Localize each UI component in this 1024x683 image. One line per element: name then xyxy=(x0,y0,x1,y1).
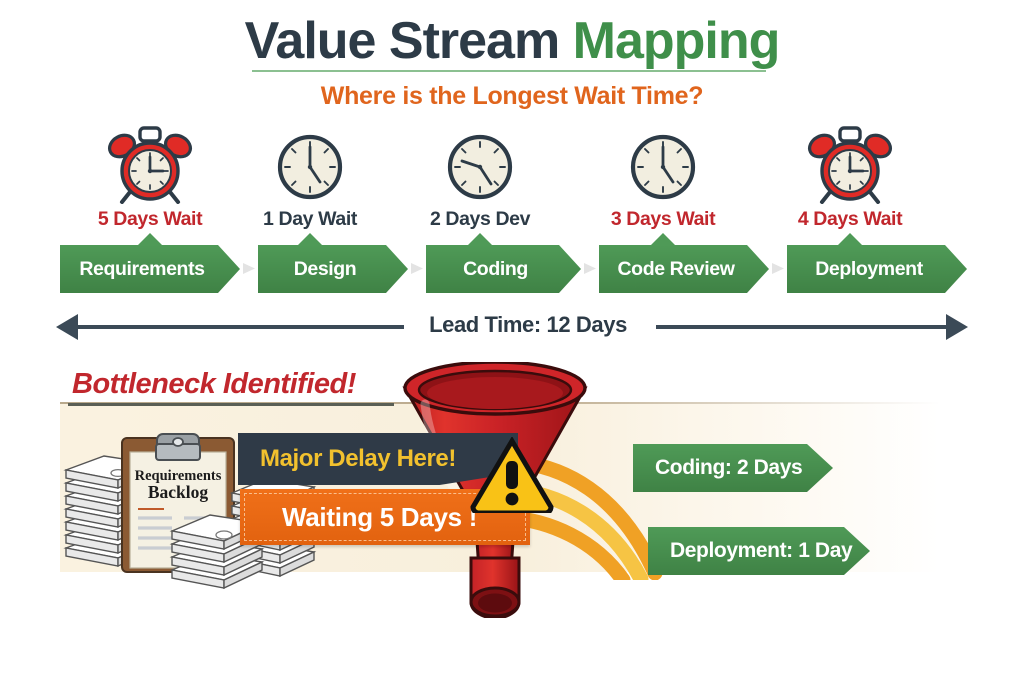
wall-clock-icon xyxy=(575,126,751,204)
infographic-canvas: Value Stream Mapping Where is the Longes… xyxy=(0,0,1024,683)
bottleneck-heading: Bottleneck Identified! xyxy=(72,368,356,401)
connector-tab-requirements xyxy=(137,233,163,246)
stage-column-code-review: 3 Days Wait xyxy=(575,126,751,231)
header-block: Value Stream Mapping xyxy=(0,14,1024,69)
stage-column-requirements: 5 Days Wait xyxy=(62,126,238,231)
major-delay-text: Major Delay Here! xyxy=(238,445,456,473)
wait-label-design: 1 Day Wait xyxy=(222,208,398,231)
lead-time-line-right xyxy=(656,325,952,329)
lead-time-label: Lead Time: 12 Days xyxy=(396,312,660,338)
stage-column-coding: 2 Days Dev xyxy=(392,126,568,231)
wait-label-code-review: 3 Days Wait xyxy=(575,208,751,231)
page-title: Value Stream Mapping xyxy=(0,14,1024,69)
alarm-clock-icon xyxy=(62,126,238,204)
result-arrow-label: Deployment: 1 Day xyxy=(648,539,852,563)
alarm-clock-icon xyxy=(762,126,938,204)
step-connector-2 xyxy=(411,263,423,274)
wait-label-deployment: 4 Days Wait xyxy=(762,208,938,231)
process-step-label: Code Review xyxy=(599,258,769,281)
result-arrow-label: Coding: 2 Days xyxy=(633,456,802,480)
lead-time-line-left xyxy=(74,325,404,329)
stage-column-design: 1 Day Wait xyxy=(222,126,398,231)
warning-triangle-icon xyxy=(470,437,554,513)
clipboard-title-line2: Backlog xyxy=(148,482,209,502)
connector-tab-design xyxy=(297,233,323,246)
stage-column-deployment: 4 Days Wait xyxy=(762,126,938,231)
process-step-deployment[interactable]: Deployment xyxy=(787,245,967,293)
result-arrow-coding[interactable]: Coding: 2 Days xyxy=(633,444,833,492)
arrow-right-icon xyxy=(946,314,968,340)
process-step-design[interactable]: Design xyxy=(258,245,408,293)
wait-label-requirements: 5 Days Wait xyxy=(62,208,238,231)
page-subtitle: Where is the Longest Wait Time? xyxy=(0,82,1024,111)
page-title-primary: Value Stream xyxy=(245,12,560,70)
connector-tab-code-review xyxy=(650,233,676,246)
result-arrow-deployment[interactable]: Deployment: 1 Day xyxy=(648,527,870,575)
title-divider xyxy=(252,70,766,72)
process-chevron-row: Requirements Design Coding Code Review D… xyxy=(0,245,1024,293)
connector-tab-deployment xyxy=(837,233,863,246)
process-step-label: Requirements xyxy=(60,258,240,281)
process-step-label: Coding xyxy=(426,258,581,281)
process-step-code-review[interactable]: Code Review xyxy=(599,245,769,293)
wall-clock-icon xyxy=(222,126,398,204)
wall-clock-icon xyxy=(392,126,568,204)
process-step-coding[interactable]: Coding xyxy=(426,245,581,293)
step-connector-4 xyxy=(772,263,784,274)
waiting-days-text: Waiting 5 Days ! xyxy=(240,502,477,533)
step-connector-3 xyxy=(584,263,596,274)
step-connector-1 xyxy=(243,263,255,274)
process-step-label: Deployment xyxy=(787,258,967,281)
page-title-accent: Mapping xyxy=(573,12,780,70)
wait-label-coding: 2 Days Dev xyxy=(392,208,568,231)
bottleneck-heading-underline xyxy=(68,403,394,406)
process-step-requirements[interactable]: Requirements xyxy=(60,245,240,293)
process-step-label: Design xyxy=(258,258,408,281)
lead-time-indicator: Lead Time: 12 Days xyxy=(56,308,968,346)
connector-tab-coding xyxy=(467,233,493,246)
